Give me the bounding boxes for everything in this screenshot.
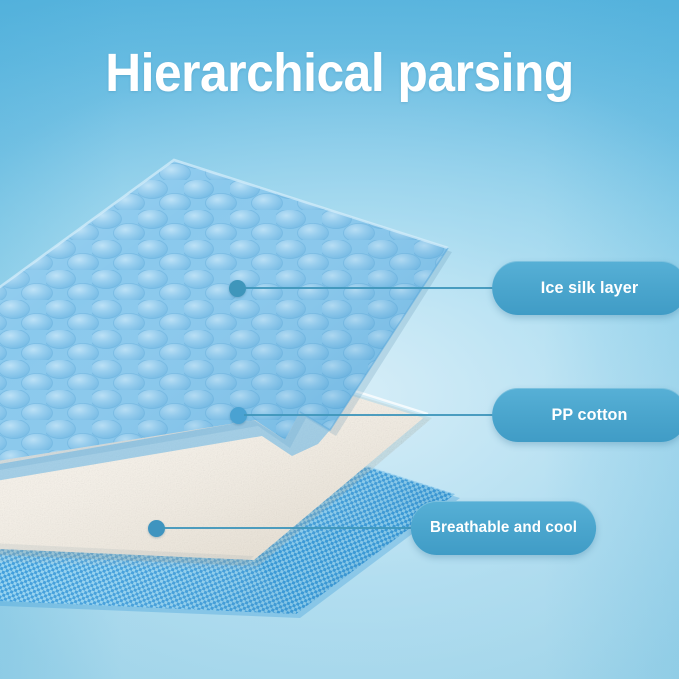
label-pill-breathable[interactable]: Breathable and cool [411, 501, 596, 555]
label-text-breathable: Breathable and cool [430, 519, 577, 537]
callout-leader-pp-cotton [244, 414, 493, 416]
label-text-pp-cotton: PP cotton [552, 405, 628, 425]
product-layer-infographic: Hierarchical parsing Ice silk layer PP c… [0, 0, 679, 679]
page-title: Hierarchical parsing [27, 42, 652, 104]
callout-leader-breathable [162, 527, 412, 529]
label-pill-ice-silk[interactable]: Ice silk layer [492, 261, 679, 315]
callout-leader-ice-silk [243, 287, 493, 289]
label-text-ice-silk: Ice silk layer [541, 278, 638, 298]
label-pill-pp-cotton[interactable]: PP cotton [492, 388, 679, 442]
